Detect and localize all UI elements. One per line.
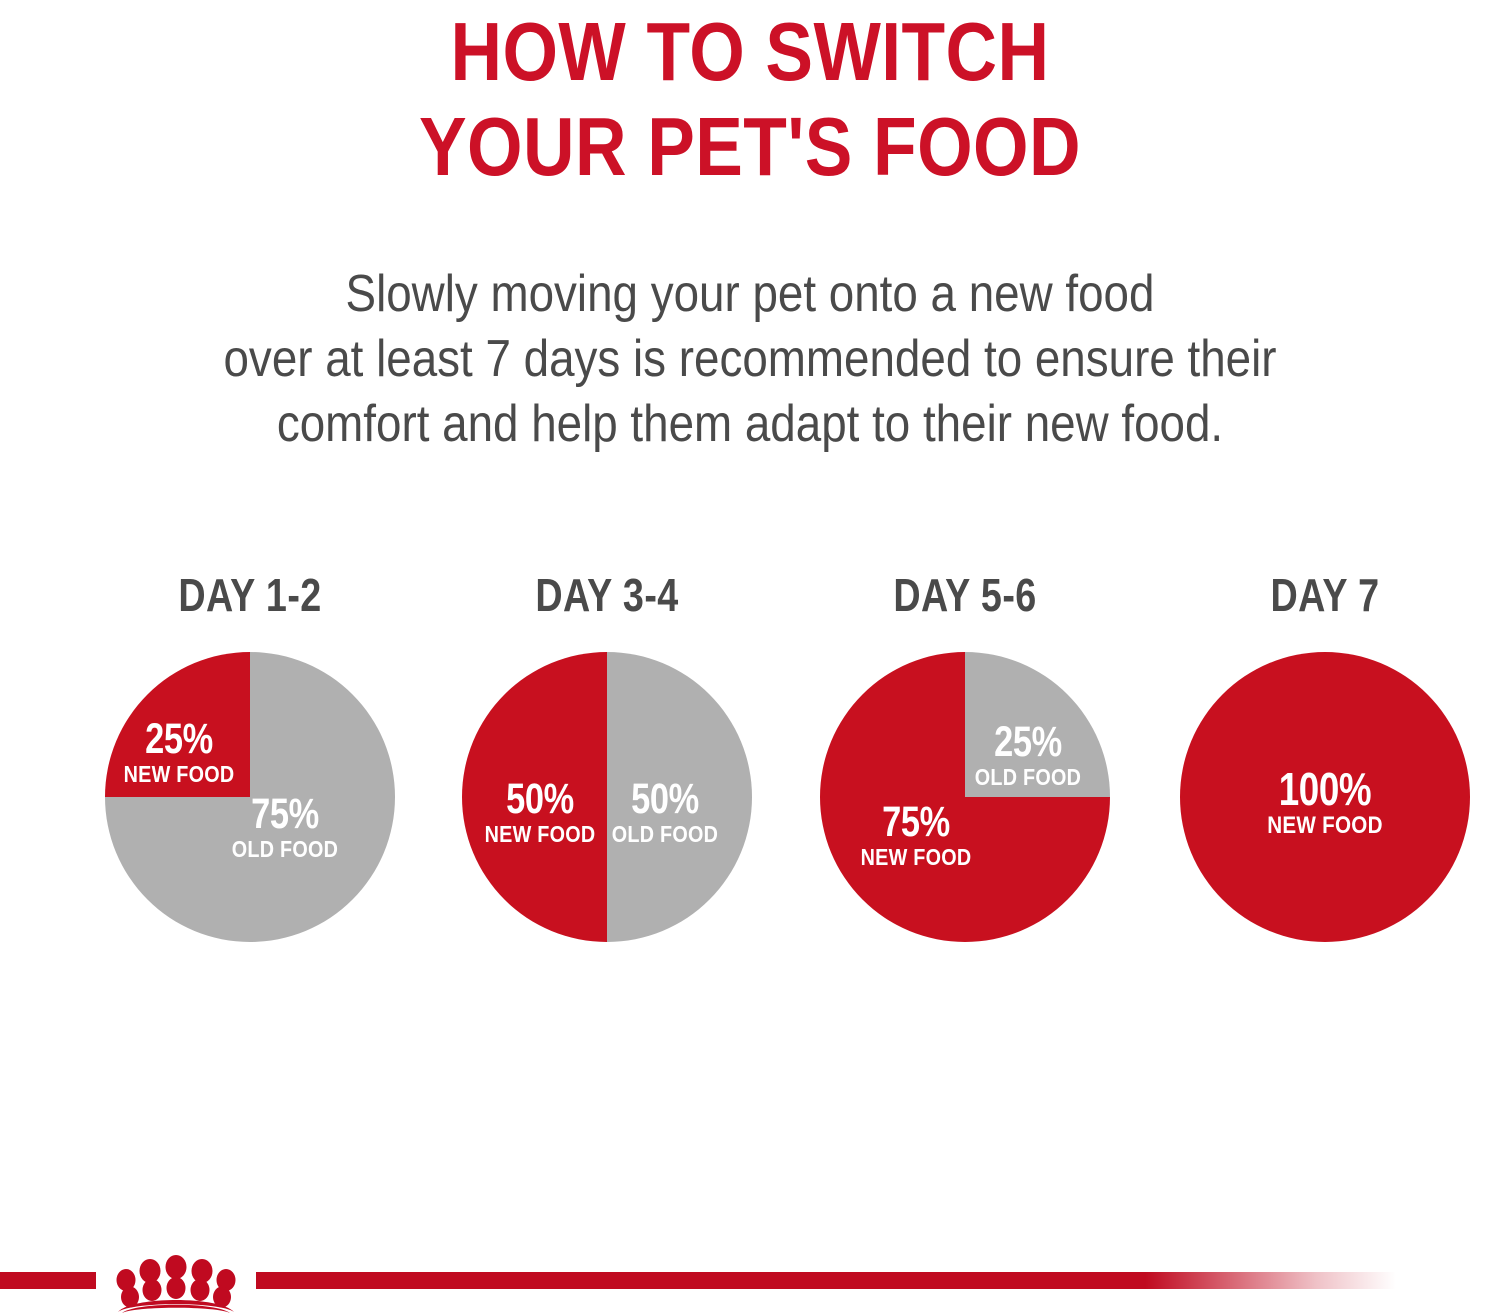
- pie-slice-old-food: [965, 652, 1110, 797]
- pie-svg-1: [105, 652, 395, 942]
- royal-canin-crown-icon: [96, 1255, 256, 1313]
- page-title-line-2: YOUR PET'S FOOD: [105, 99, 1395, 194]
- page-title: HOW TO SWITCH YOUR PET'S FOOD: [105, 4, 1395, 194]
- pie-slice-new-food: [105, 652, 250, 797]
- page-title-line-1: HOW TO SWITCH: [105, 4, 1395, 99]
- footer-bar-left: [0, 1272, 96, 1289]
- pie-chart-2: DAY 3-450%NEW FOOD50%OLD FOOD: [457, 570, 757, 1000]
- pie-chart-row: DAY 1-225%NEW FOOD75%OLD FOODDAY 3-450%N…: [0, 570, 1500, 1000]
- footer: [0, 1255, 1500, 1313]
- pie-slice-old-food: [607, 652, 752, 942]
- pie-svg-4: [1180, 652, 1470, 942]
- pie-graphic-2: 50%NEW FOOD50%OLD FOOD: [462, 652, 752, 942]
- day-label-3: DAY 5-6: [842, 570, 1088, 620]
- pie-svg-3: [820, 652, 1110, 942]
- footer-bar-right: [256, 1272, 1396, 1289]
- pie-chart-1: DAY 1-225%NEW FOOD75%OLD FOOD: [100, 570, 400, 1000]
- page-subtitle: Slowly moving your pet onto a new food o…: [90, 262, 1410, 457]
- pie-chart-4: DAY 7100%NEW FOOD: [1175, 570, 1475, 1000]
- page-subtitle-line-3: comfort and help them adapt to their new…: [90, 392, 1410, 457]
- pie-slice-new-food: [462, 652, 607, 942]
- pie-graphic-3: 25%OLD FOOD75%NEW FOOD: [820, 652, 1110, 942]
- pie-svg-2: [462, 652, 752, 942]
- day-label-2: DAY 3-4: [484, 570, 730, 620]
- day-label-1: DAY 1-2: [127, 570, 373, 620]
- page-subtitle-line-1: Slowly moving your pet onto a new food: [90, 262, 1410, 327]
- pie-graphic-1: 25%NEW FOOD75%OLD FOOD: [105, 652, 395, 942]
- pie-graphic-4: 100%NEW FOOD: [1180, 652, 1470, 942]
- pie-slice-new-food: [1180, 652, 1470, 942]
- pie-chart-3: DAY 5-625%OLD FOOD75%NEW FOOD: [815, 570, 1115, 1000]
- day-label-4: DAY 7: [1202, 570, 1448, 620]
- page-subtitle-line-2: over at least 7 days is recommended to e…: [90, 327, 1410, 392]
